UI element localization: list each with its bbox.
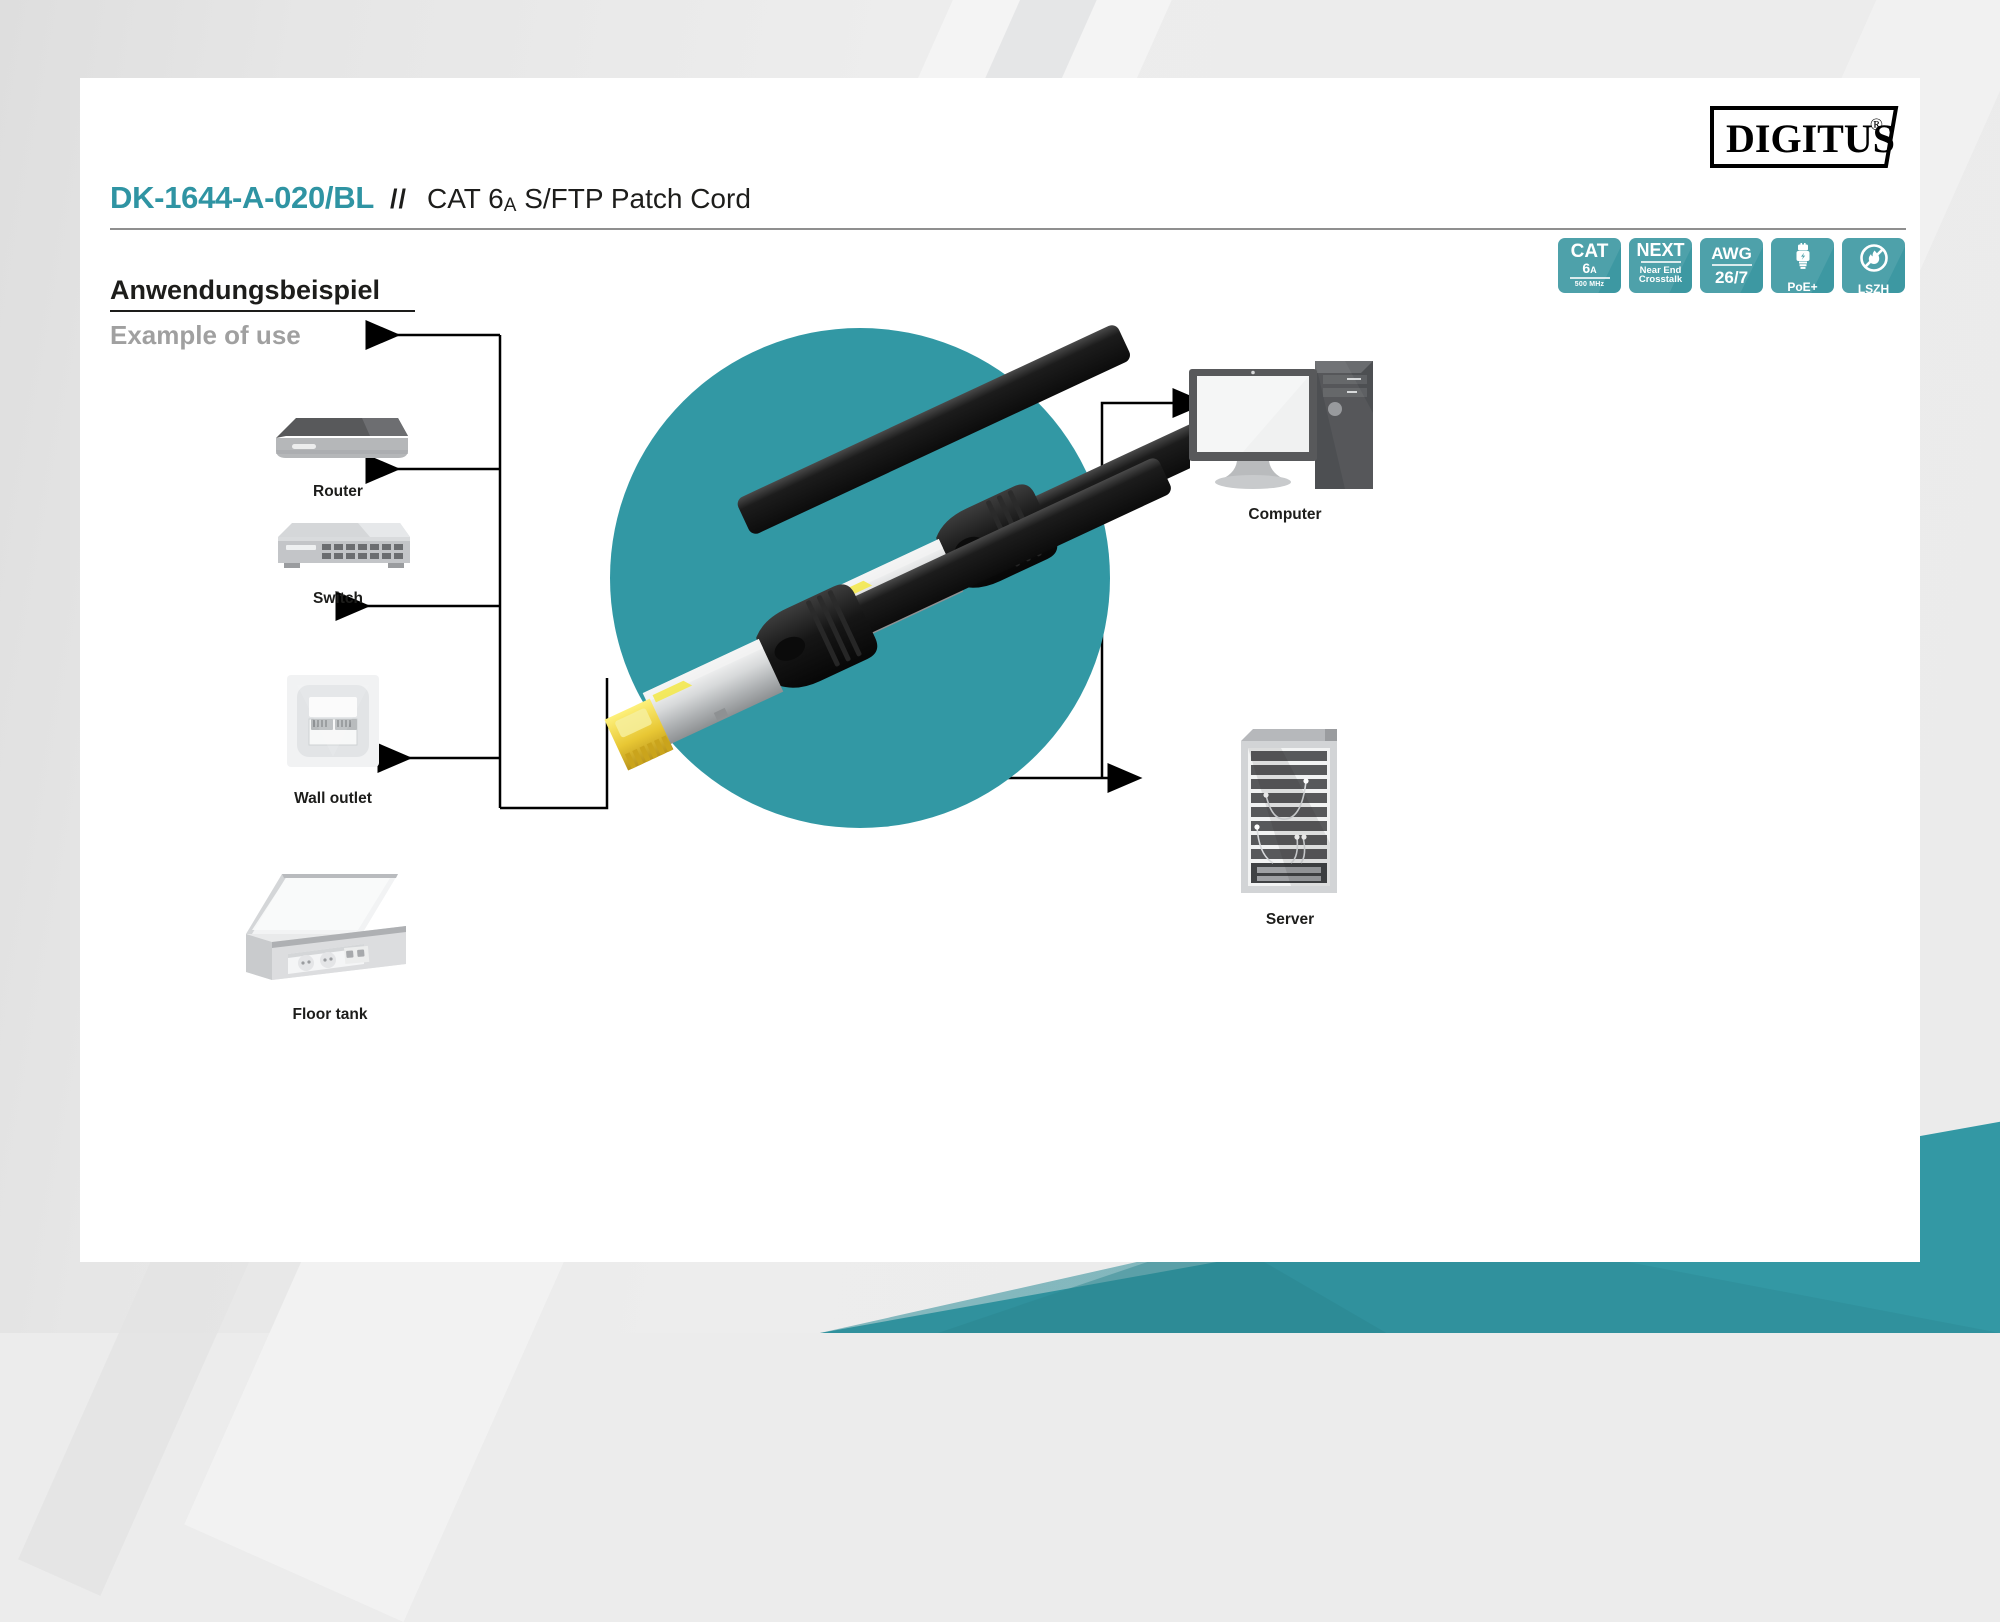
device-wall-outlet-label: Wall outlet xyxy=(223,790,443,808)
device-switch-label: Switch xyxy=(228,590,448,608)
device-computer-label: Computer xyxy=(1155,506,1415,524)
device-floor-tank: Floor tank xyxy=(185,868,475,1024)
switch-icon xyxy=(258,515,418,577)
wall-outlet-icon xyxy=(275,673,391,777)
device-router-label: Router xyxy=(228,483,448,501)
device-wall-outlet: Wall outlet xyxy=(223,673,443,808)
device-router: Router xyxy=(228,408,448,501)
patch-cord-illustration xyxy=(550,298,1190,878)
computer-icon xyxy=(1185,353,1385,493)
router-icon xyxy=(258,408,418,470)
device-floor-tank-label: Floor tank xyxy=(185,1006,475,1024)
device-server-label: Server xyxy=(1200,911,1380,929)
server-rack-icon xyxy=(1231,723,1349,898)
floor-tank-icon xyxy=(230,868,430,993)
device-switch: Switch xyxy=(228,515,448,608)
device-computer: Computer xyxy=(1155,353,1415,524)
application-diagram: Router Switch xyxy=(80,78,1920,1262)
device-server: Server xyxy=(1200,723,1380,929)
